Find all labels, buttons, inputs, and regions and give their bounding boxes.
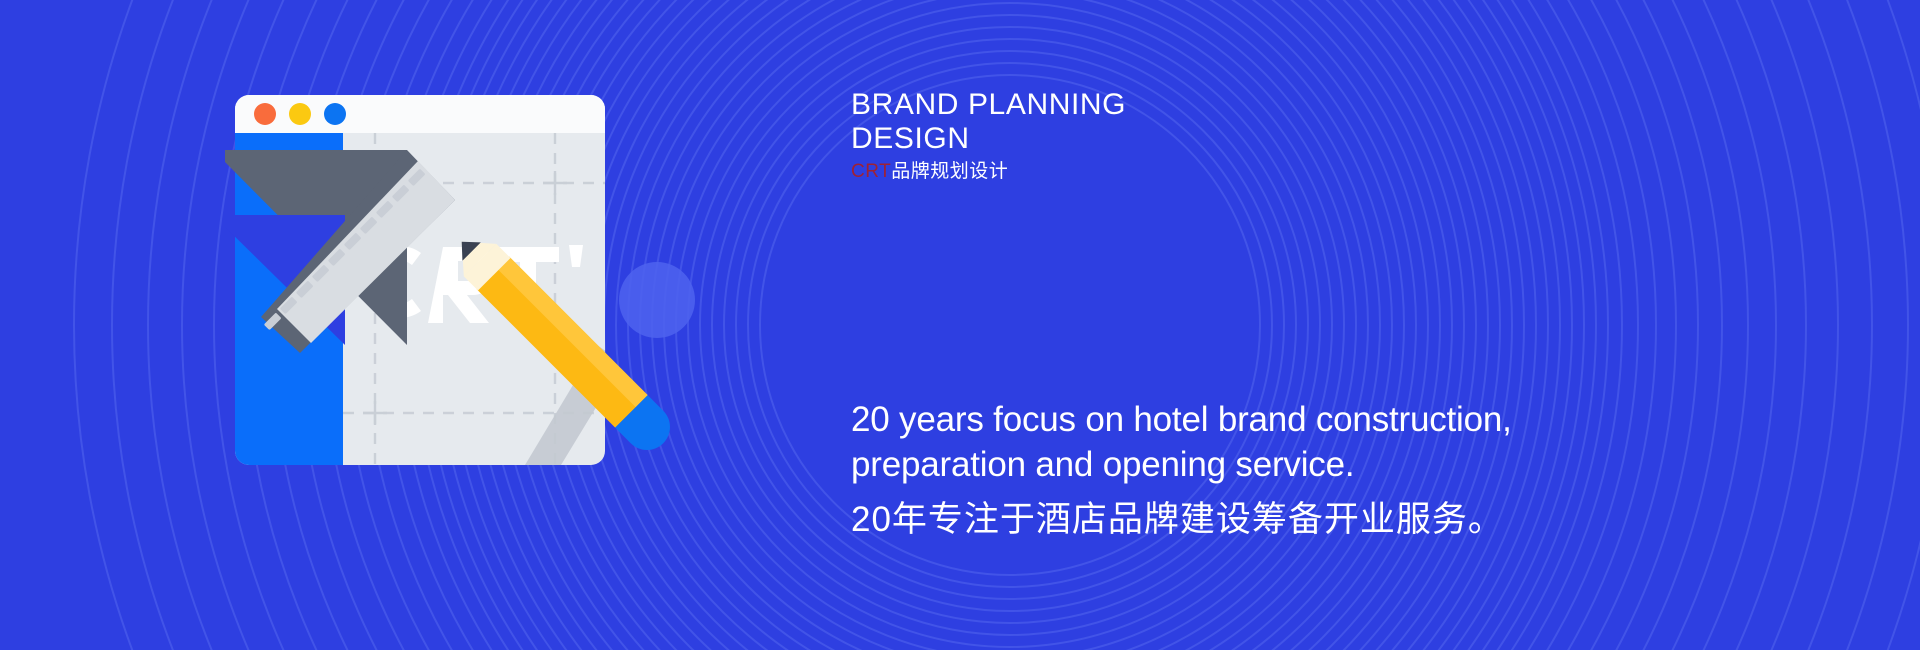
eraser-halo bbox=[619, 262, 695, 338]
window-controls bbox=[254, 103, 346, 125]
copy-column: BRAND PLANNING DESIGN CRT品牌规划设计 20 years… bbox=[851, 0, 1851, 650]
tagline-english: 20 years focus on hotel brand constructi… bbox=[851, 398, 1512, 488]
brand-mark: CRT bbox=[851, 161, 891, 182]
heading-subtitle-cn: CRT品牌规划设计 bbox=[851, 161, 1126, 184]
page-title: BRAND PLANNING DESIGN bbox=[851, 88, 1126, 155]
tagline-block: 20 years focus on hotel brand constructi… bbox=[851, 398, 1512, 542]
brand-banner: BRAND PLANNING DESIGN CRT品牌规划设计 20 years… bbox=[0, 0, 1920, 650]
close-dot bbox=[254, 103, 276, 125]
tagline-chinese: 20年专注于酒店品牌建设筹备开业服务。 bbox=[851, 498, 1512, 543]
heading-subtitle-cn-text: 品牌规划设计 bbox=[891, 161, 1008, 182]
heading-block: BRAND PLANNING DESIGN CRT品牌规划设计 bbox=[851, 88, 1126, 184]
minimize-dot bbox=[289, 103, 311, 125]
brand-illustration bbox=[225, 95, 845, 570]
maximize-dot bbox=[324, 103, 346, 125]
